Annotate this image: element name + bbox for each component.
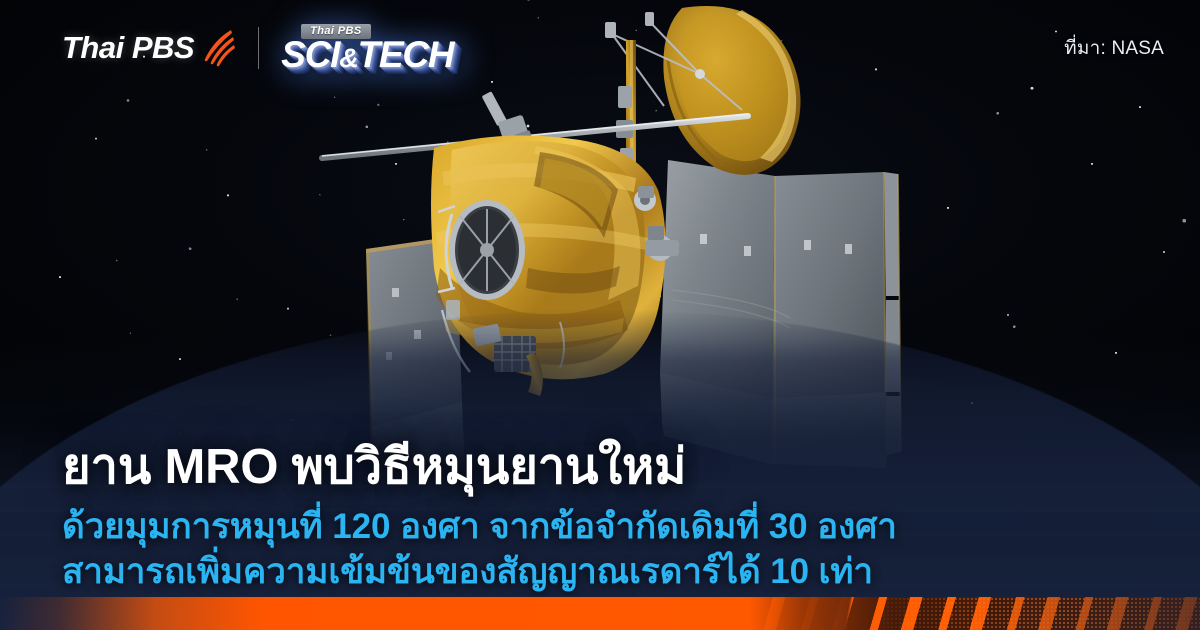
thai-pbs-swoosh-icon xyxy=(198,28,236,68)
header-bar: Thai PBS Thai PBS SCI&TECH ที่มา: NASA xyxy=(0,0,1200,96)
hirise-telescope xyxy=(438,200,525,300)
sci-tech-title: SCI&TECH xyxy=(281,36,453,73)
footer-strip xyxy=(0,597,1200,630)
subtitle-line-2: สามารถเพิ่มความเข้มข้นของสัญญาณเรดาร์ได้… xyxy=(62,550,1160,594)
sci-tech-logo[interactable]: Thai PBS SCI&TECH xyxy=(281,24,453,73)
footer-strip-shadow xyxy=(970,597,1200,630)
brand-divider xyxy=(258,27,259,69)
source-credit: ที่มา: NASA xyxy=(1064,33,1164,63)
thai-pbs-wordmark: Thai PBS xyxy=(62,30,194,66)
thai-pbs-logo[interactable]: Thai PBS xyxy=(62,28,236,68)
sci-tech-title-tech: TECH xyxy=(358,34,454,75)
brand-group: Thai PBS Thai PBS SCI&TECH xyxy=(62,24,453,73)
subtitle-line-1: ด้วยมุมการหมุนที่ 120 องศา จากข้อจำกัดเด… xyxy=(62,505,1160,549)
page-title: ยาน MRO พบวิธีหมุนยานใหม่ xyxy=(62,439,1160,496)
sci-tech-title-sci: SCI xyxy=(281,34,339,75)
sci-tech-ampersand: & xyxy=(339,43,357,73)
news-card: Thai PBS Thai PBS SCI&TECH ที่มา: NASA ย… xyxy=(0,0,1200,630)
caption-block: ยาน MRO พบวิธีหมุนยานใหม่ ด้วยมุมการหมุน… xyxy=(62,439,1160,594)
